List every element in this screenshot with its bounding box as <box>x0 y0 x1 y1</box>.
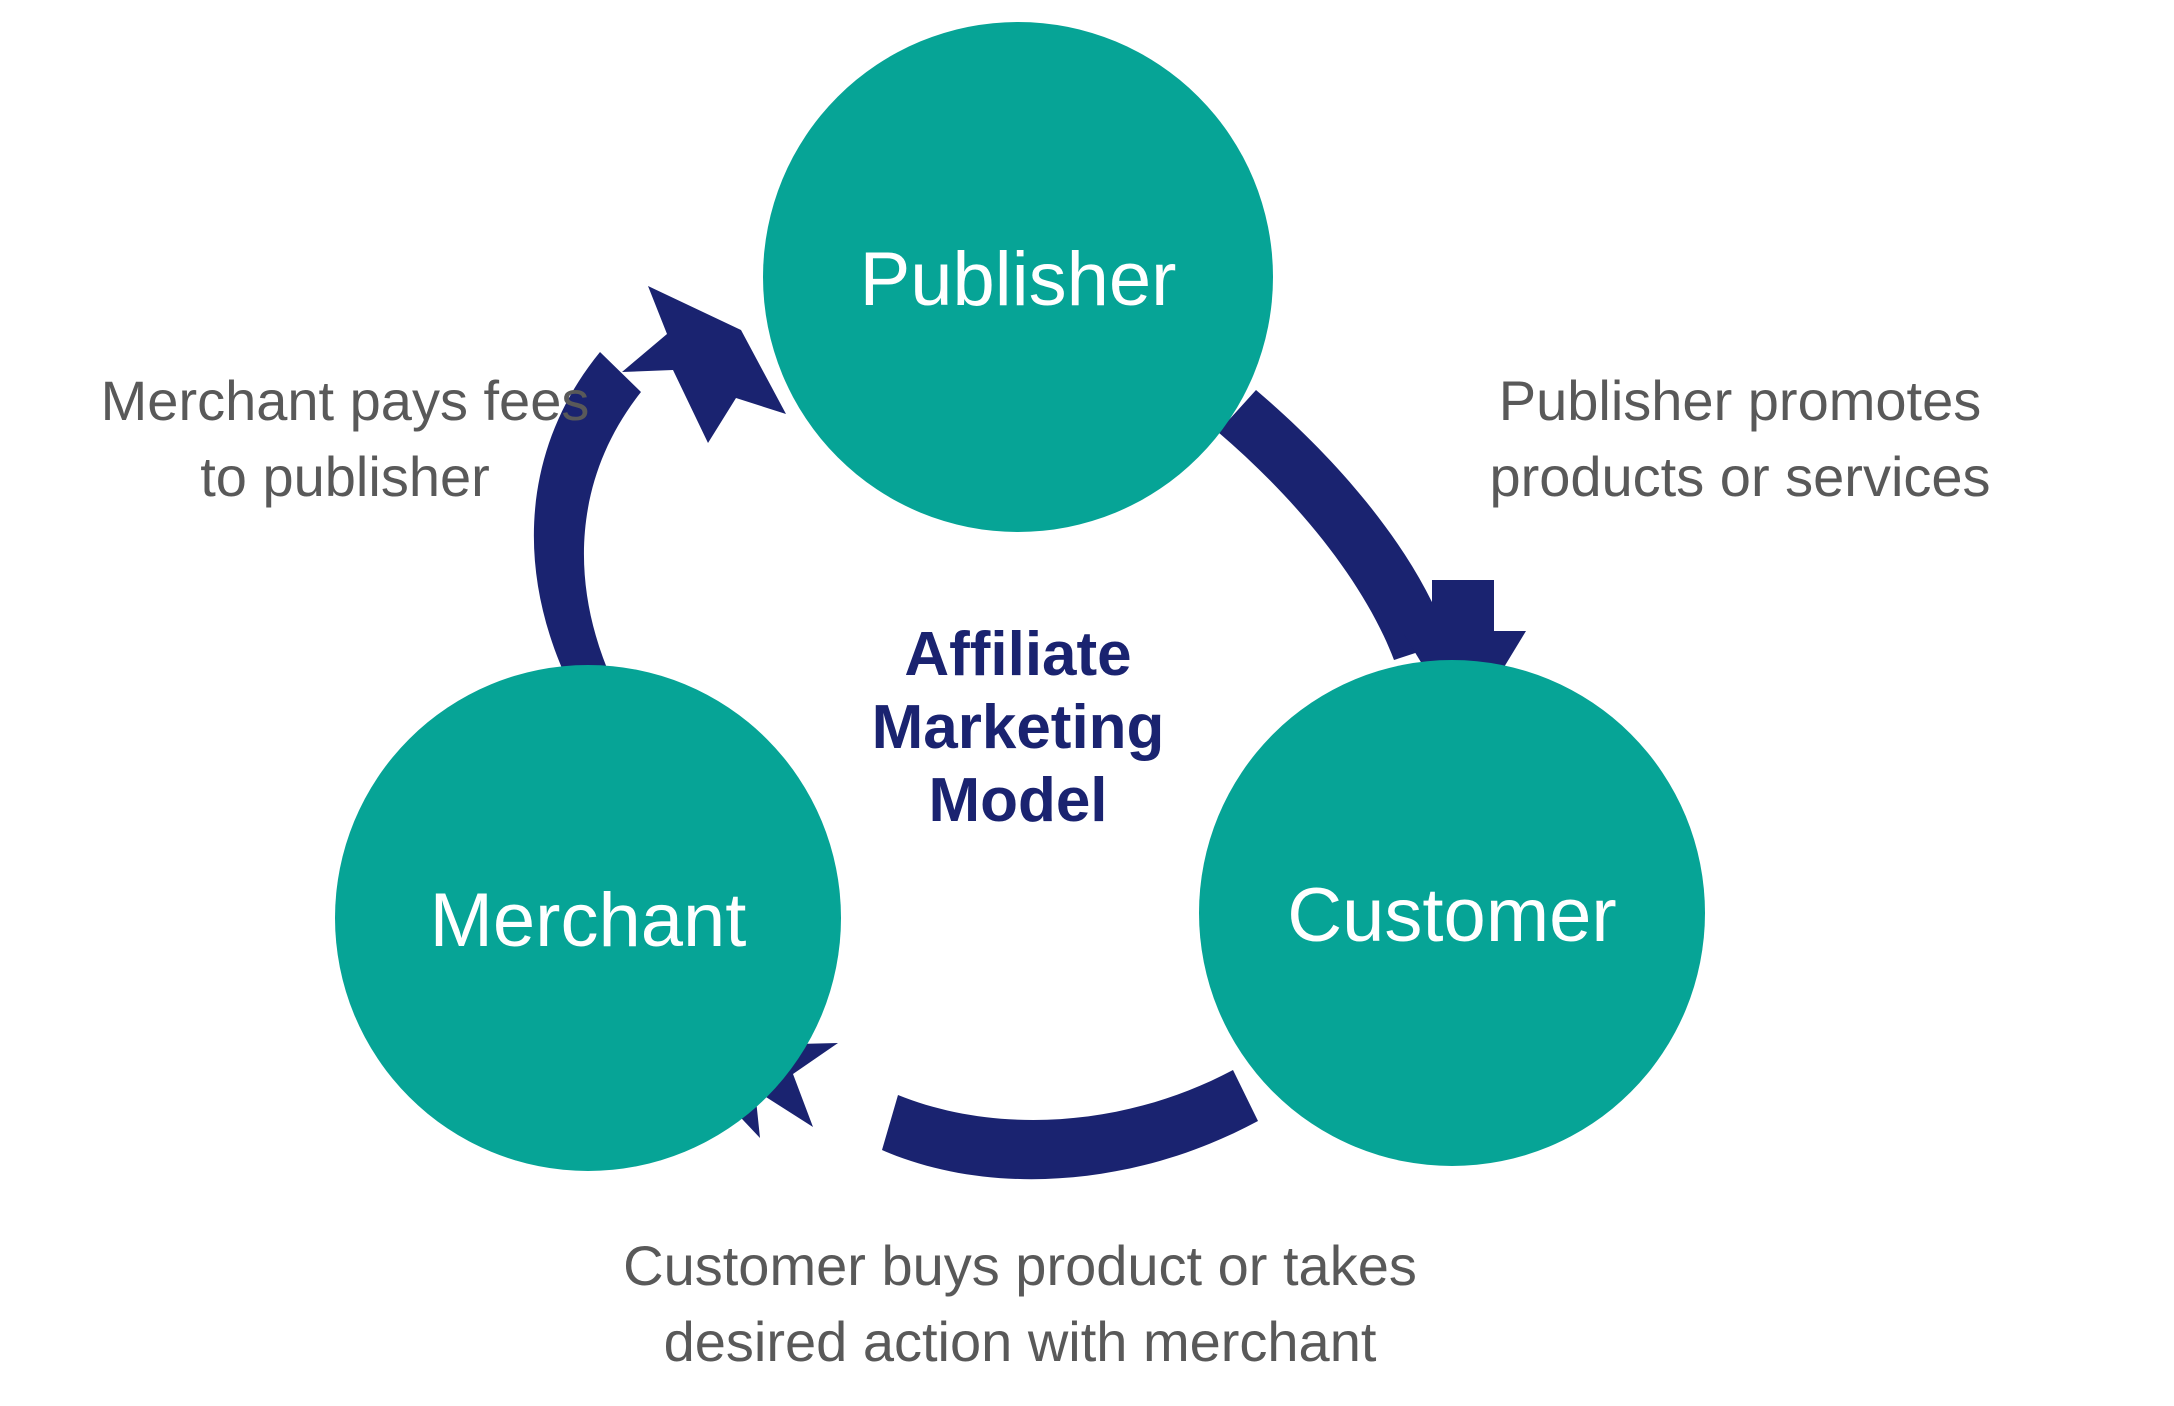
node-customer[interactable]: Customer <box>1199 660 1705 1166</box>
node-label-merchant: Merchant <box>430 878 747 963</box>
caption-customer-to-merchant-line-2: desired action with merchant <box>664 1310 1377 1373</box>
node-publisher[interactable]: Publisher <box>763 22 1273 532</box>
caption-merchant-to-publisher: Merchant pays fees to publisher <box>101 369 590 508</box>
diagram-canvas: Publisher Merchant Customer Affiliate Ma… <box>0 0 2174 1406</box>
caption-customer-to-merchant: Customer buys product or takes desired a… <box>623 1234 1417 1373</box>
caption-merchant-to-publisher-line-1: Merchant pays fees <box>101 369 590 432</box>
caption-merchant-to-publisher-line-2: to publisher <box>200 445 490 508</box>
arrowhead-merchant-to-publisher <box>622 286 786 443</box>
arrow-shaft-customer-to-merchant <box>882 1070 1258 1179</box>
caption-publisher-to-customer-line-2: products or services <box>1489 445 1990 508</box>
arrow-merchant-to-publisher <box>534 286 786 690</box>
arrow-shaft-publisher-to-customer <box>1218 390 1449 660</box>
node-label-publisher: Publisher <box>860 237 1177 322</box>
center-title-line-3: Model <box>928 766 1107 835</box>
caption-publisher-to-customer-line-1: Publisher promotes <box>1499 369 1981 432</box>
affiliate-marketing-diagram: Publisher Merchant Customer Affiliate Ma… <box>0 0 2174 1406</box>
center-title-line-1: Affiliate <box>904 620 1131 689</box>
center-title: Affiliate Marketing Model <box>872 620 1165 835</box>
node-merchant[interactable]: Merchant <box>335 665 841 1171</box>
node-label-customer: Customer <box>1287 873 1616 958</box>
arrow-neck-publisher-to-customer <box>1432 580 1494 640</box>
caption-publisher-to-customer: Publisher promotes products or services <box>1489 369 1990 508</box>
caption-customer-to-merchant-line-1: Customer buys product or takes <box>623 1234 1417 1297</box>
center-title-line-2: Marketing <box>872 693 1165 762</box>
